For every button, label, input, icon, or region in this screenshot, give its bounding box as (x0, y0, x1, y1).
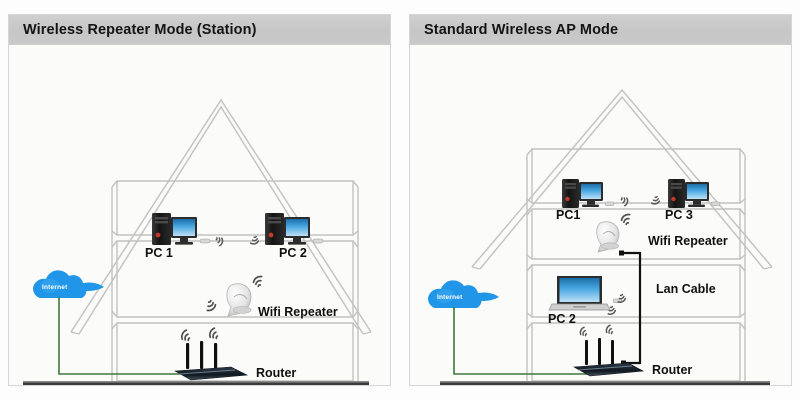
router-device-left (175, 341, 247, 380)
diagram-stage-left: Internet PC 1 PC 2 Wifi Repeater Router (9, 45, 390, 385)
wifi-repeater-label-right: Wifi Repeater (648, 235, 728, 248)
panel-standard-wireless-ap-mode: Standard Wireless AP Mode (409, 14, 792, 386)
pc-3-label-right: PC 3 (665, 209, 693, 222)
pc-1-label-left: PC 1 (145, 247, 173, 260)
wifi-repeater-device-right (597, 222, 619, 252)
wifi-repeater-device-left (227, 284, 251, 316)
router-label-right: Router (652, 364, 692, 377)
panel-header-right: Standard Wireless AP Mode (410, 15, 791, 45)
house-roof-left (71, 100, 371, 334)
lan-cable-label-right: Lan Cable (656, 283, 716, 296)
router-device-right (574, 338, 643, 376)
lan-cable-right (619, 251, 640, 366)
router-wifi-waves-left (180, 328, 218, 342)
pc-1-device-right (562, 179, 614, 208)
router-label-left: Router (256, 367, 296, 380)
panel-title-right: Standard Wireless AP Mode (424, 22, 618, 38)
diagram-root: Wireless Repeater Mode (Station) (0, 0, 800, 400)
diagram-stage-right: Internet PC1 PC 3 Wifi Repeater Lan Cabl… (410, 45, 791, 385)
ground-left (23, 381, 369, 385)
ethernet-cable-left (59, 297, 191, 374)
router-wifi-waves-right (579, 325, 613, 337)
pc-2-laptop-device-right (549, 276, 622, 310)
ground-right (440, 381, 770, 385)
pc-2-label-left: PC 2 (279, 247, 307, 260)
pc-2-label-right: PC 2 (548, 313, 576, 326)
internet-label-left: Internet (42, 284, 67, 291)
repeater-wifi-waves-right (621, 213, 630, 224)
pc-2-device-left (265, 213, 323, 245)
floor-4-right (532, 323, 740, 381)
wifi-repeater-label-left: Wifi Repeater (258, 306, 338, 319)
pc-1-label-right: PC1 (556, 209, 580, 222)
internet-label-right: Internet (437, 294, 462, 301)
panel-wireless-repeater-mode: Wireless Repeater Mode (Station) (8, 14, 391, 386)
panel-header-left: Wireless Repeater Mode (Station) (9, 15, 390, 45)
pc-wifi-waves-right (621, 196, 661, 206)
panel-body-right: Internet PC1 PC 3 Wifi Repeater Lan Cabl… (410, 45, 791, 385)
panel-title-left: Wireless Repeater Mode (Station) (23, 22, 257, 38)
right-diagram-svg (410, 45, 784, 385)
pc-1-device-left (152, 213, 210, 245)
house-floors-right (527, 149, 745, 381)
laptop-wifi-waves-right (608, 294, 626, 316)
pc-3-device-right (668, 179, 720, 208)
panel-body-left: Internet PC 1 PC 2 Wifi Repeater Router (9, 45, 390, 385)
left-diagram-svg (9, 45, 383, 385)
